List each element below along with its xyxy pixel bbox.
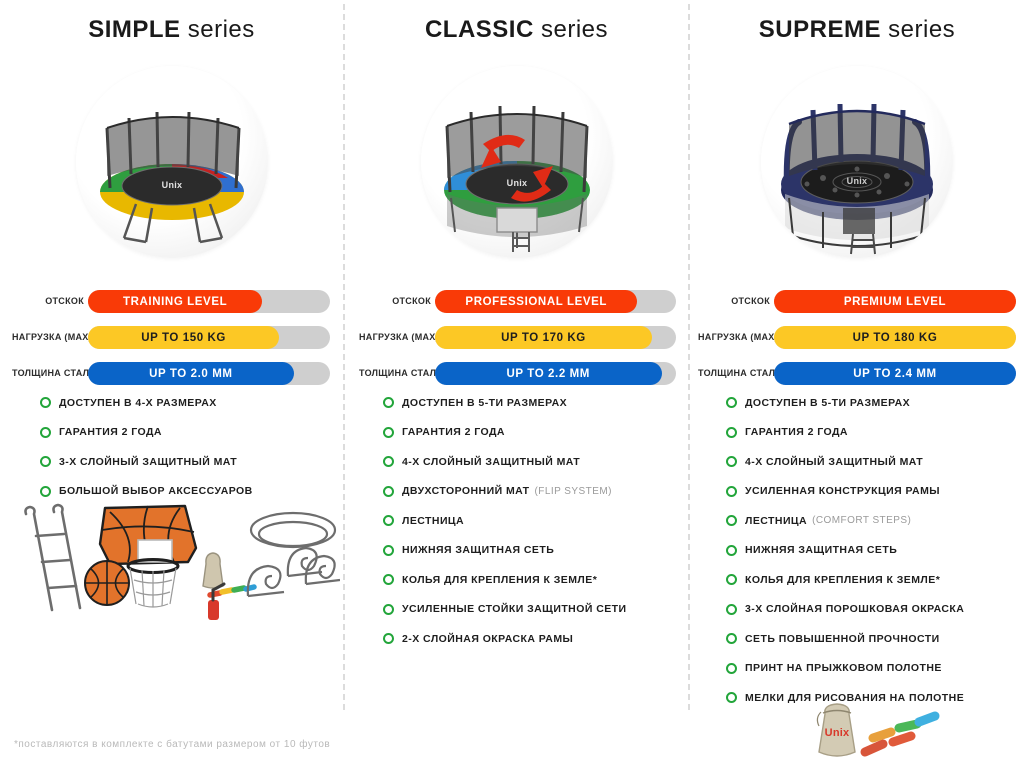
check-circle-icon: [726, 663, 737, 674]
check-circle-icon: [383, 456, 394, 467]
spec-bar-track-bounce: PREMIUM LEVEL: [774, 290, 1016, 313]
check-circle-icon: [383, 574, 394, 585]
feature-label: ГАРАНТИЯ 2 ГОДА: [745, 426, 848, 438]
feature-label: 4-Х СЛОЙНЫЙ ЗАЩИТНЫЙ МАТ: [745, 456, 923, 468]
feature-label: 2-Х СЛОЙНАЯ ОКРАСКА РАМЫ: [402, 633, 573, 645]
spec-bar-fill-bounce: PROFESSIONAL LEVEL: [435, 290, 637, 313]
feature-list-classic: ДОСТУПЕН В 5-ТИ РАЗМЕРАХГАРАНТИЯ 2 ГОДА4…: [345, 388, 688, 654]
series-title-word-main: CLASSIC: [425, 16, 534, 43]
check-circle-icon: [726, 692, 737, 703]
feature-label: ДОСТУПЕН В 5-ТИ РАЗМЕРАХ: [745, 397, 910, 409]
spec-bar-track-steel: UP TO 2.4 MM: [774, 362, 1016, 385]
series-title-classic: CLASSIC series: [345, 16, 688, 44]
feature-label: ГАРАНТИЯ 2 ГОДА: [59, 426, 162, 438]
spec-bar-row-steel: ТОЛЩИНА СТАЛИ UP TO 2.4 MM: [690, 360, 1024, 387]
spec-bar-value-bounce: PREMIUM LEVEL: [844, 296, 946, 308]
spec-bar-track-bounce: PROFESSIONAL LEVEL: [435, 290, 676, 313]
spec-bar-row-bounce: ОТСКОК PROFESSIONAL LEVEL: [345, 288, 688, 315]
check-circle-icon: [383, 604, 394, 615]
check-circle-icon: [726, 604, 737, 615]
feature-label: 3-Х СЛОЙНАЯ ПОРОШКОВАЯ ОКРАСКА: [745, 603, 964, 615]
feature-label: СЕТЬ ПОВЫШЕННОЙ ПРОЧНОСТИ: [745, 633, 940, 645]
feature-item: ГАРАНТИЯ 2 ГОДА: [0, 418, 343, 448]
feature-item: КОЛЬЯ ДЛЯ КРЕПЛЕНИЯ К ЗЕМЛЕ*: [345, 565, 688, 595]
product-photo-supreme: Unix: [761, 66, 953, 258]
spec-bars-simple: ОТСКОК TRAINING LEVEL НАГРУЗКА (MAX) UP …: [0, 288, 343, 396]
feature-item: НИЖНЯЯ ЗАЩИТНАЯ СЕТЬ: [345, 536, 688, 566]
feature-item: ПРИНТ НА ПРЫЖКОВОМ ПОЛОТНЕ: [690, 654, 1024, 684]
spec-bars-supreme: ОТСКОК PREMIUM LEVEL НАГРУЗКА (MAX) UP T…: [690, 288, 1024, 396]
check-circle-icon: [726, 545, 737, 556]
check-circle-icon: [383, 633, 394, 644]
check-circle-icon: [726, 486, 737, 497]
spec-bar-fill-steel: UP TO 2.2 MM: [435, 362, 662, 385]
spec-bar-value-load: UP TO 150 KG: [141, 332, 226, 344]
feature-item: УСИЛЕННЫЕ СТОЙКИ ЗАЩИТНОЙ СЕТИ: [345, 595, 688, 625]
feature-item: ДОСТУПЕН В 5-ТИ РАЗМЕРАХ: [345, 388, 688, 418]
spec-bar-label-load: НАГРУЗКА (MAX): [12, 324, 84, 351]
comparison-infographic: SIMPLE series: [0, 0, 1024, 768]
spec-bar-track-bounce: TRAINING LEVEL: [88, 290, 330, 313]
spec-bar-row-bounce: ОТСКОК PREMIUM LEVEL: [690, 288, 1024, 315]
check-circle-icon: [383, 397, 394, 408]
spec-bar-row-bounce: ОТСКОК TRAINING LEVEL: [0, 288, 343, 315]
feature-label: 3-Х СЛОЙНЫЙ ЗАЩИТНЫЙ МАТ: [59, 456, 237, 468]
spec-bar-value-bounce: TRAINING LEVEL: [123, 296, 227, 308]
feature-list-supreme: ДОСТУПЕН В 5-ТИ РАЗМЕРАХГАРАНТИЯ 2 ГОДА4…: [690, 388, 1024, 713]
check-circle-icon: [726, 397, 737, 408]
check-circle-icon: [383, 427, 394, 438]
feature-label: ЛЕСТНИЦА: [402, 515, 464, 527]
product-photo-simple: Unix: [76, 66, 268, 258]
feature-label: УСИЛЕННАЯ КОНСТРУКЦИЯ РАМЫ: [745, 485, 940, 497]
check-circle-icon: [726, 456, 737, 467]
spec-bar-value-load: UP TO 180 KG: [853, 332, 938, 344]
spec-bar-fill-bounce: PREMIUM LEVEL: [774, 290, 1016, 313]
feature-label: ГАРАНТИЯ 2 ГОДА: [402, 426, 505, 438]
series-title-word-main: SIMPLE: [88, 16, 180, 43]
spec-bar-fill-steel: UP TO 2.4 MM: [774, 362, 1016, 385]
feature-label: ДОСТУПЕН В 4-Х РАЗМЕРАХ: [59, 397, 217, 409]
feature-item: 4-Х СЛОЙНЫЙ ЗАЩИТНЫЙ МАТ: [690, 447, 1024, 477]
accessories-illustration: [10, 500, 340, 620]
feature-note: (FLIP SYSTEM): [535, 486, 612, 497]
feature-item: КОЛЬЯ ДЛЯ КРЕПЛЕНИЯ К ЗЕМЛЕ*: [690, 565, 1024, 595]
check-circle-icon: [40, 456, 51, 467]
spec-bar-fill-steel: UP TO 2.0 MM: [88, 362, 294, 385]
series-title-word-main: SUPREME: [759, 16, 881, 43]
spec-bar-row-load: НАГРУЗКА (MAX) UP TO 180 KG: [690, 324, 1024, 351]
series-column-simple: SIMPLE series: [0, 0, 343, 768]
spec-bar-fill-bounce: TRAINING LEVEL: [88, 290, 262, 313]
feature-label: НИЖНЯЯ ЗАЩИТНАЯ СЕТЬ: [745, 544, 897, 556]
feature-item: 2-Х СЛОЙНАЯ ОКРАСКА РАМЫ: [345, 624, 688, 654]
check-circle-icon: [383, 515, 394, 526]
feature-item: 3-Х СЛОЙНЫЙ ЗАЩИТНЫЙ МАТ: [0, 447, 343, 477]
svg-text:Unix: Unix: [506, 178, 527, 188]
spec-bars-classic: ОТСКОК PROFESSIONAL LEVEL НАГРУЗКА (MAX)…: [345, 288, 688, 396]
svg-text:Unix: Unix: [161, 180, 182, 190]
check-circle-icon: [726, 427, 737, 438]
svg-text:Unix: Unix: [825, 727, 850, 739]
spec-bar-label-steel: ТОЛЩИНА СТАЛИ: [12, 360, 84, 387]
spec-bar-fill-load: UP TO 150 KG: [88, 326, 279, 349]
check-circle-icon: [40, 397, 51, 408]
feature-item: 3-Х СЛОЙНАЯ ПОРОШКОВАЯ ОКРАСКА: [690, 595, 1024, 625]
spec-bar-value-bounce: PROFESSIONAL LEVEL: [465, 296, 607, 308]
spec-bar-label-load: НАГРУЗКА (MAX): [359, 324, 431, 351]
spec-bar-label-steel: ТОЛЩИНА СТАЛИ: [359, 360, 431, 387]
spec-bar-value-steel: UP TO 2.2 MM: [507, 368, 590, 380]
product-photo-classic: Unix: [421, 66, 613, 258]
feature-list-simple: ДОСТУПЕН В 4-Х РАЗМЕРАХГАРАНТИЯ 2 ГОДА3-…: [0, 388, 343, 506]
svg-text:Unix: Unix: [847, 176, 868, 186]
feature-label: КОЛЬЯ ДЛЯ КРЕПЛЕНИЯ К ЗЕМЛЕ*: [745, 574, 940, 586]
spec-bar-track-steel: UP TO 2.0 MM: [88, 362, 330, 385]
feature-item: 4-Х СЛОЙНЫЙ ЗАЩИТНЫЙ МАТ: [345, 447, 688, 477]
feature-item: ДОСТУПЕН В 4-Х РАЗМЕРАХ: [0, 388, 343, 418]
check-circle-icon: [726, 515, 737, 526]
feature-label: БОЛЬШОЙ ВЫБОР АКСЕССУАРОВ: [59, 485, 253, 497]
spec-bar-label-steel: ТОЛЩИНА СТАЛИ: [698, 360, 770, 387]
spec-bar-label-bounce: ОТСКОК: [698, 288, 770, 315]
feature-label: КОЛЬЯ ДЛЯ КРЕПЛЕНИЯ К ЗЕМЛЕ*: [402, 574, 597, 586]
feature-item: ДОСТУПЕН В 5-ТИ РАЗМЕРАХ: [690, 388, 1024, 418]
feature-item: СЕТЬ ПОВЫШЕННОЙ ПРОЧНОСТИ: [690, 624, 1024, 654]
spec-bar-fill-load: UP TO 180 KG: [774, 326, 1016, 349]
feature-label: ЛЕСТНИЦА: [745, 515, 807, 527]
feature-item: ЛЕСТНИЦА: [345, 506, 688, 536]
series-title-simple: SIMPLE series: [0, 16, 343, 44]
series-title-word-series: series: [888, 16, 955, 43]
feature-note: (COMFORT STEPS): [812, 515, 911, 526]
spec-bar-label-bounce: ОТСКОК: [12, 288, 84, 315]
feature-label: ПРИНТ НА ПРЫЖКОВОМ ПОЛОТНЕ: [745, 662, 942, 674]
check-circle-icon: [383, 545, 394, 556]
feature-label: ДВУХСТОРОННИЙ МАТ: [402, 485, 530, 497]
series-column-supreme: SUPREME series: [690, 0, 1024, 768]
series-title-supreme: SUPREME series: [690, 16, 1024, 44]
feature-item: ГАРАНТИЯ 2 ГОДА: [345, 418, 688, 448]
spec-bar-track-load: UP TO 180 KG: [774, 326, 1016, 349]
series-column-classic: CLASSIC series: [345, 0, 688, 768]
check-circle-icon: [383, 486, 394, 497]
spec-bar-value-steel: UP TO 2.4 MM: [853, 368, 936, 380]
chalk-bag-illustration: Unix: [795, 700, 985, 766]
feature-item: НИЖНЯЯ ЗАЩИТНАЯ СЕТЬ: [690, 536, 1024, 566]
feature-item: ЛЕСТНИЦА(COMFORT STEPS): [690, 506, 1024, 536]
feature-label: 4-Х СЛОЙНЫЙ ЗАЩИТНЫЙ МАТ: [402, 456, 580, 468]
spec-bar-fill-load: UP TO 170 KG: [435, 326, 652, 349]
feature-label: УСИЛЕННЫЕ СТОЙКИ ЗАЩИТНОЙ СЕТИ: [402, 603, 627, 615]
spec-bar-row-steel: ТОЛЩИНА СТАЛИ UP TO 2.2 MM: [345, 360, 688, 387]
series-title-word-series: series: [541, 16, 608, 43]
check-circle-icon: [726, 633, 737, 644]
spec-bar-row-steel: ТОЛЩИНА СТАЛИ UP TO 2.0 MM: [0, 360, 343, 387]
spec-bar-track-load: UP TO 170 KG: [435, 326, 676, 349]
spec-bar-track-load: UP TO 150 KG: [88, 326, 330, 349]
spec-bar-label-bounce: ОТСКОК: [359, 288, 431, 315]
spec-bar-label-load: НАГРУЗКА (MAX): [698, 324, 770, 351]
feature-label: ДОСТУПЕН В 5-ТИ РАЗМЕРАХ: [402, 397, 567, 409]
spec-bar-value-load: UP TO 170 KG: [501, 332, 586, 344]
series-title-word-series: series: [188, 16, 255, 43]
feature-item: УСИЛЕННАЯ КОНСТРУКЦИЯ РАМЫ: [690, 477, 1024, 507]
feature-item: ГАРАНТИЯ 2 ГОДА: [690, 418, 1024, 448]
check-circle-icon: [40, 486, 51, 497]
check-circle-icon: [726, 574, 737, 585]
spec-bar-value-steel: UP TO 2.0 MM: [149, 368, 232, 380]
spec-bar-row-load: НАГРУЗКА (MAX) UP TO 150 KG: [0, 324, 343, 351]
feature-item: ДВУХСТОРОННИЙ МАТ(FLIP SYSTEM): [345, 477, 688, 507]
check-circle-icon: [40, 427, 51, 438]
spec-bar-track-steel: UP TO 2.2 MM: [435, 362, 676, 385]
footnote-text: *поставляются в комплекте с батутами раз…: [14, 739, 330, 750]
spec-bar-row-load: НАГРУЗКА (MAX) UP TO 170 KG: [345, 324, 688, 351]
feature-label: НИЖНЯЯ ЗАЩИТНАЯ СЕТЬ: [402, 544, 554, 556]
